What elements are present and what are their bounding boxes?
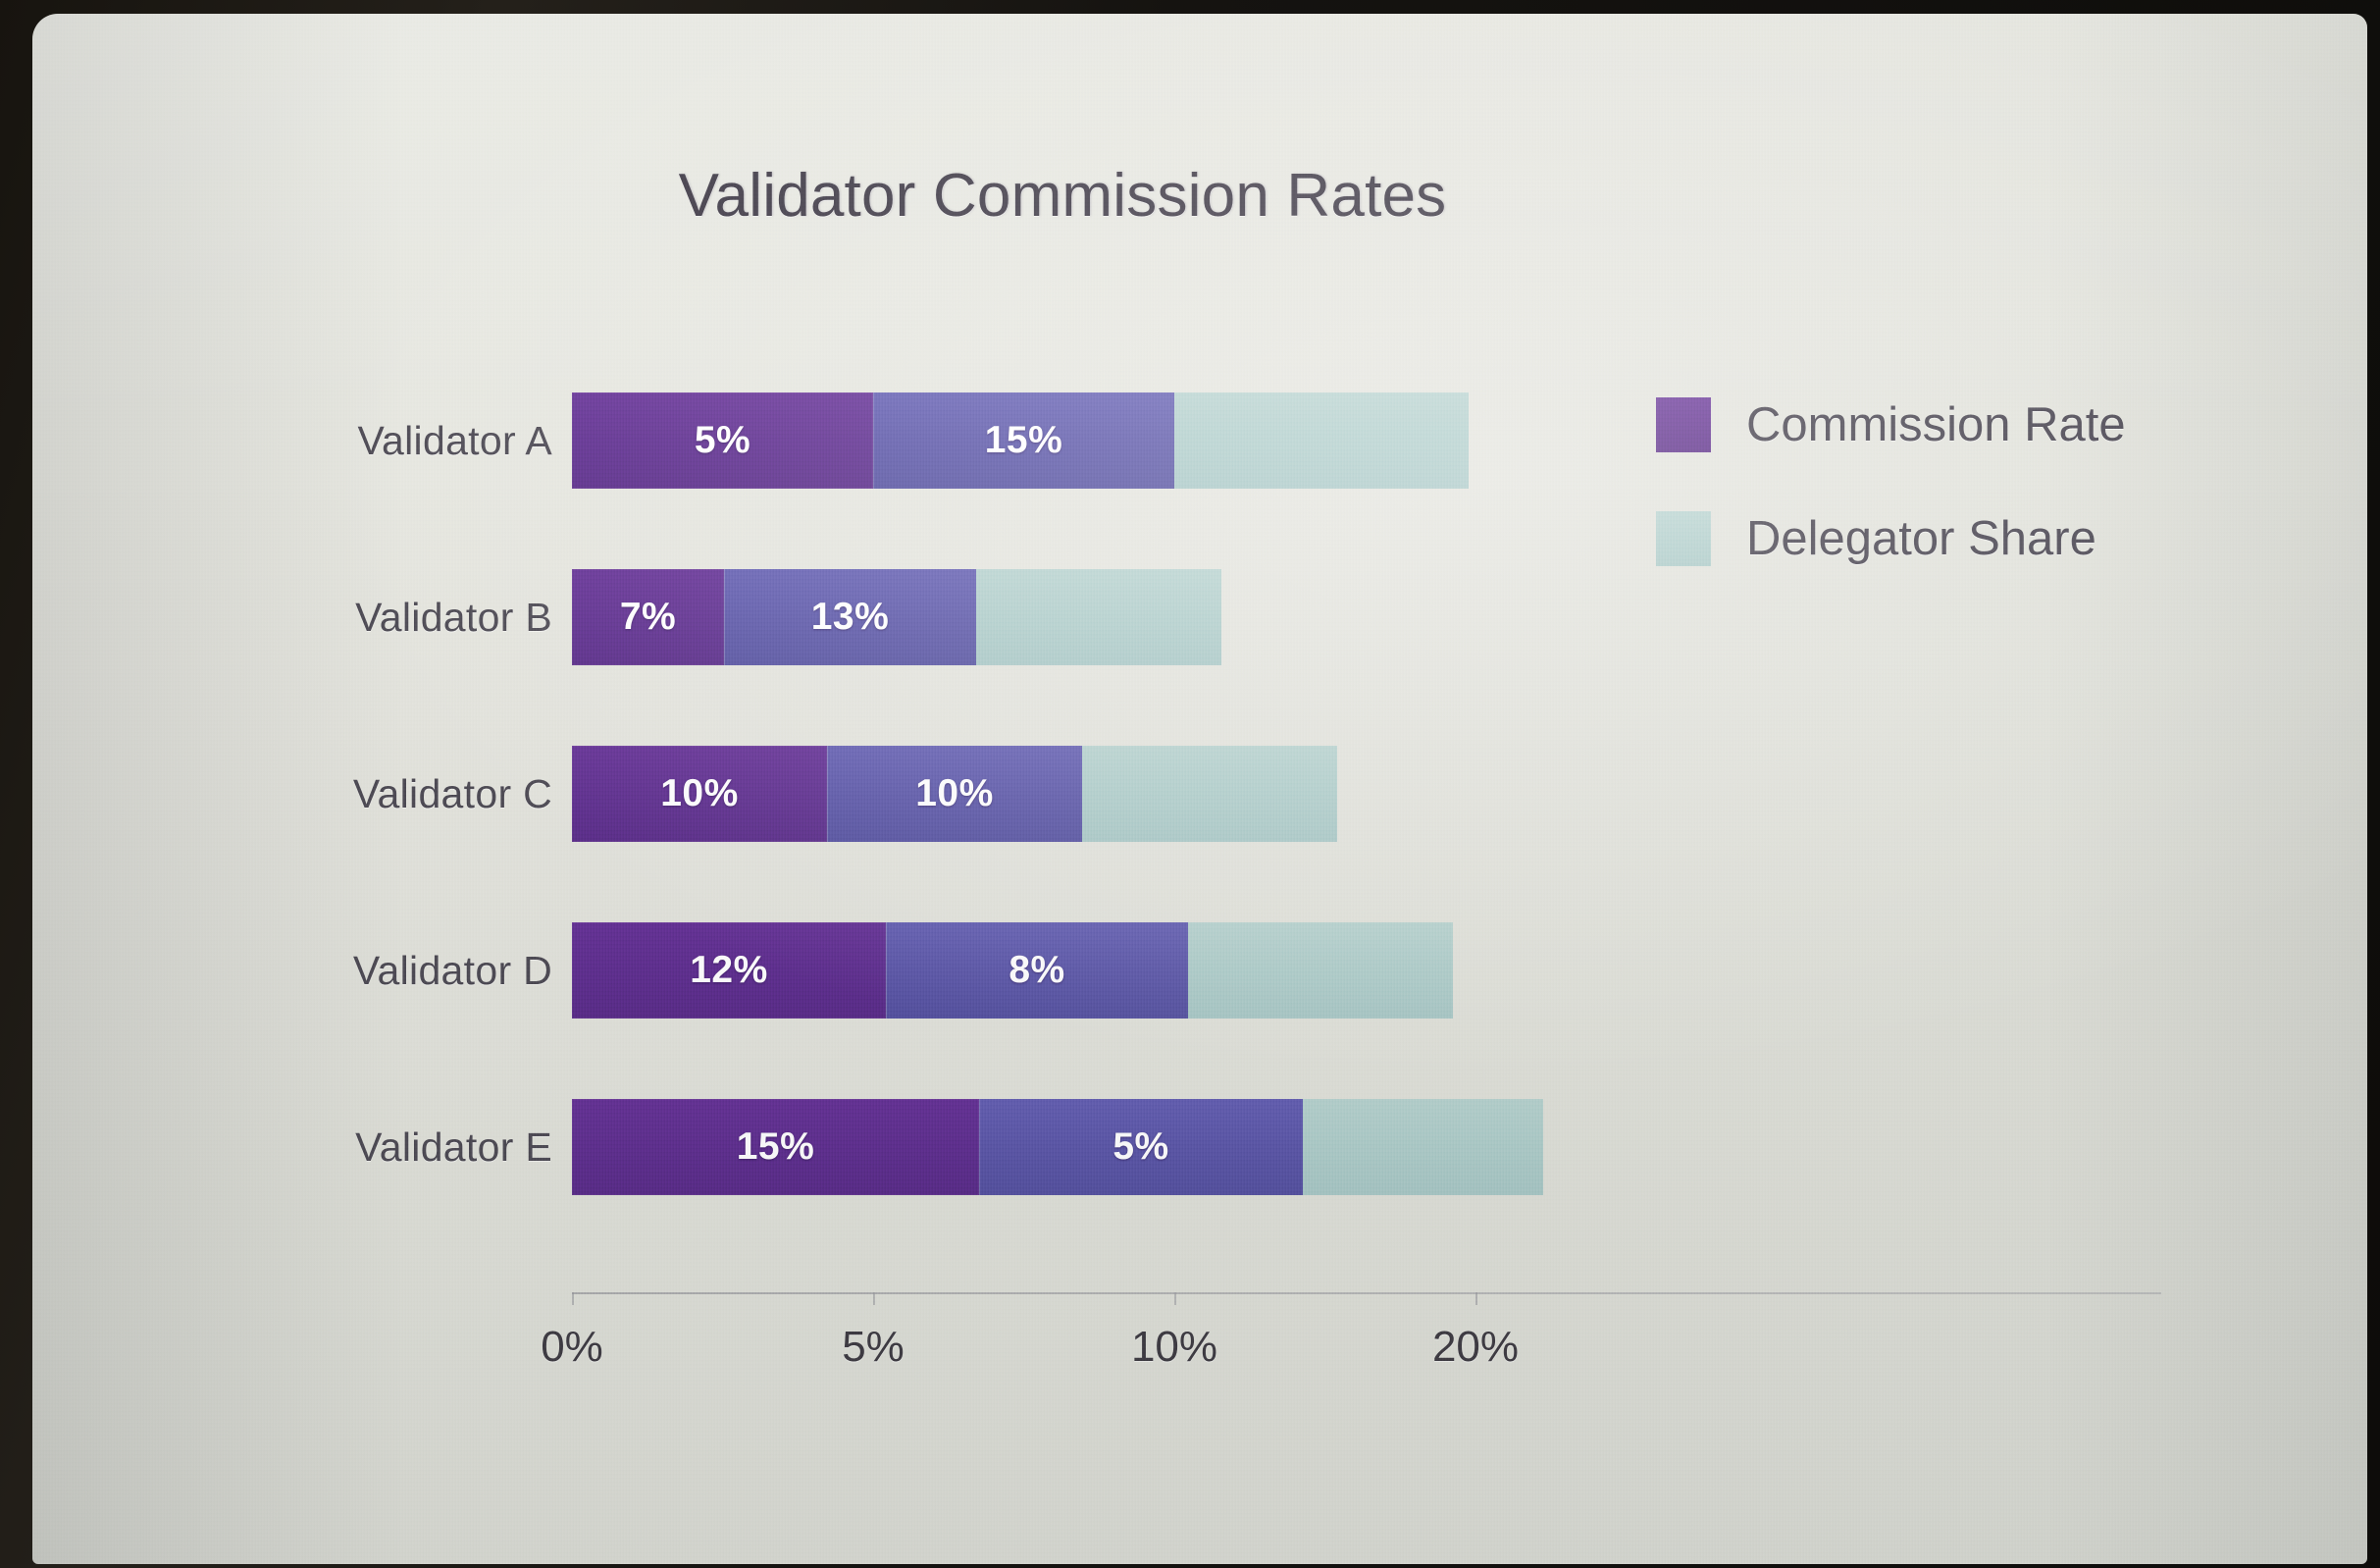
stacked-bar[interactable]: 12%8% [572,922,1453,1019]
legend-swatch-commission [1656,397,1711,452]
bar-segment-commission[interactable]: 10% [572,746,827,842]
stacked-bar[interactable]: 7%13% [572,569,1221,665]
stacked-bar[interactable]: 10%10% [572,746,1337,842]
bar-segment-commission[interactable]: 7% [572,569,724,665]
segment-value-label: 12% [690,949,768,992]
segment-value-label: 10% [660,772,739,815]
y-axis-label-validator-e: Validator E [229,1099,552,1195]
bar-segment-delegator[interactable] [1303,1099,1543,1195]
validator-commission-chart: Validator Commission Rates Validator A5%… [32,14,2367,1564]
x-tick-mark [1475,1292,1477,1305]
bar-segment-delegator[interactable] [1188,922,1453,1019]
photograph-of-monitor: Validator Commission Rates Validator A5%… [0,0,2380,1568]
x-tick-label: 20% [1377,1323,1574,1372]
bar-segment-commission[interactable]: 15% [572,1099,979,1195]
legend-item[interactable]: Commission Rate [1656,396,2126,453]
x-tick-label: 0% [474,1323,670,1372]
segment-value-label: 7% [620,596,676,639]
y-axis-label-validator-d: Validator D [229,922,552,1019]
segment-value-label: 5% [1112,1125,1168,1169]
x-tick-mark [1174,1292,1176,1305]
segment-value-label: 15% [737,1125,815,1169]
x-tick-mark [572,1292,574,1305]
y-axis-label-validator-b: Validator B [229,569,552,665]
stacked-bar[interactable]: 5%15% [572,392,1469,489]
bar-segment-commission[interactable]: 5% [572,392,873,489]
legend-label: Commission Rate [1746,397,2126,452]
legend-swatch-delegator [1656,511,1711,566]
x-axis-line [572,1292,2161,1294]
bar-segment-delegator[interactable] [1082,746,1337,842]
bar-segment-delegator[interactable] [976,569,1221,665]
x-tick-label: 5% [775,1323,971,1372]
bar-segment-secondary[interactable]: 8% [886,922,1188,1019]
segment-value-label: 10% [915,772,994,815]
monitor-screen: Validator Commission Rates Validator A5%… [32,14,2367,1564]
segment-value-label: 13% [811,596,890,639]
segment-value-label: 5% [695,419,750,462]
bar-segment-commission[interactable]: 12% [572,922,886,1019]
y-axis-label-validator-a: Validator A [229,392,552,489]
segment-value-label: 15% [985,419,1063,462]
bar-segment-secondary[interactable]: 13% [724,569,976,665]
segment-value-label: 8% [1009,949,1064,992]
stacked-bar[interactable]: 15%5% [572,1099,1543,1195]
chart-legend: Commission RateDelegator Share [1656,396,2126,624]
x-tick-mark [873,1292,875,1305]
bar-segment-secondary[interactable]: 5% [979,1099,1303,1195]
bar-segment-delegator[interactable] [1174,392,1469,489]
bar-segment-secondary[interactable]: 15% [873,392,1174,489]
y-axis-label-validator-c: Validator C [229,746,552,842]
x-tick-label: 10% [1076,1323,1272,1372]
legend-item[interactable]: Delegator Share [1656,510,2126,567]
legend-label: Delegator Share [1746,511,2096,566]
bar-segment-secondary[interactable]: 10% [827,746,1082,842]
